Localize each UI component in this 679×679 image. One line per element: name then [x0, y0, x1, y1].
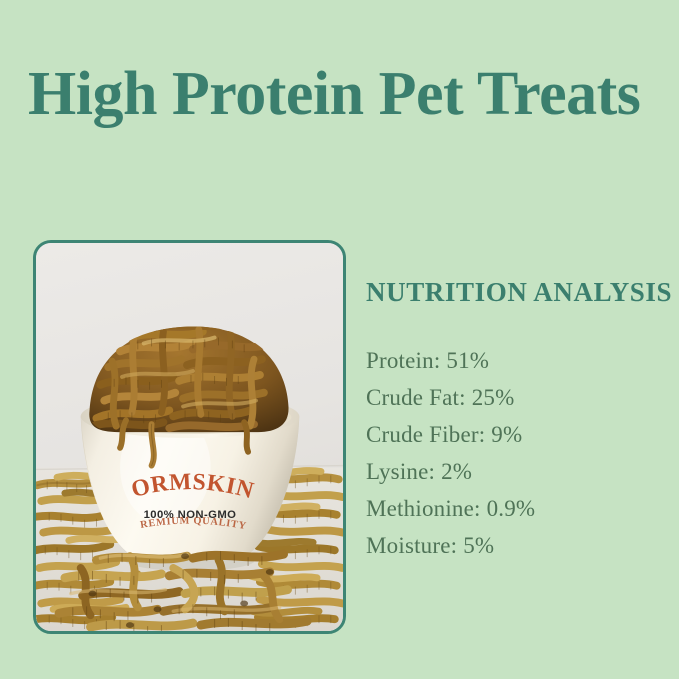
product-photo-frame: WORMSKING 100% NON-GMO PREMIUM QUALITY: [33, 240, 346, 634]
nutrition-item-moisture: Moisture: 5%: [366, 527, 671, 564]
nutrition-item-protein: Protein: 51%: [366, 342, 671, 379]
page-title: High Protein Pet Treats: [28, 62, 668, 126]
nutrition-item-lysine: Lysine: 2%: [366, 453, 671, 490]
nutrition-item-methionine: Methionine: 0.9%: [366, 490, 671, 527]
mealworm-bowl-illustration: WORMSKING 100% NON-GMO PREMIUM QUALITY: [36, 243, 343, 631]
nutrition-item-crude-fat: Crude Fat: 25%: [366, 379, 671, 416]
nutrition-list: Protein: 51% Crude Fat: 25% Crude Fiber:…: [366, 342, 671, 564]
nutrition-item-crude-fiber: Crude Fiber: 9%: [366, 416, 671, 453]
product-photo: WORMSKING 100% NON-GMO PREMIUM QUALITY: [36, 243, 343, 631]
nutrition-heading: NUTRITION ANALYSIS: [366, 277, 671, 307]
nutrition-panel: NUTRITION ANALYSIS Protein: 51% Crude Fa…: [366, 277, 671, 564]
product-infographic: High Protein Pet Treats: [0, 0, 679, 679]
